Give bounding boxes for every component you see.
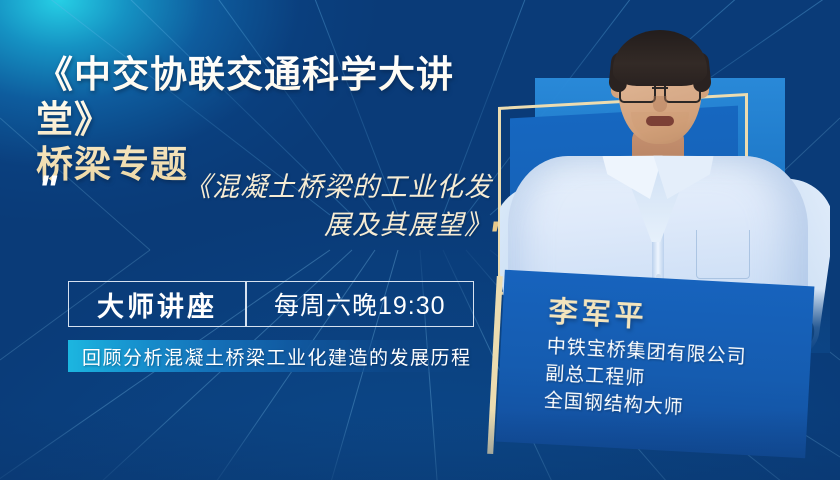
- tagline-text: 回顾分析混凝土桥梁工业化建造的发展历程: [68, 343, 472, 370]
- poster-canvas: 《中交协联交通科学大讲堂》 桥梁专题 " 《混凝土桥梁的工业化发 展及其展望》 …: [0, 0, 840, 480]
- schedule-box: 大师讲座 每周六晚19:30: [68, 281, 474, 327]
- speaker-info-inner: 李军平 中铁宝桥集团有限公司 副总工程师 全国钢结构大师: [496, 270, 815, 459]
- series-label: 大师讲座: [69, 285, 245, 324]
- left-content-column: 《中交协联交通科学大讲堂》 桥梁专题 " 《混凝土桥梁的工业化发 展及其展望》 …: [0, 0, 520, 480]
- speaker-hair: [613, 30, 707, 86]
- tagline-bar: 回顾分析混凝土桥梁工业化建造的发展历程: [68, 340, 474, 372]
- speaker-shirt-pocket: [696, 230, 750, 279]
- lecture-title-text: 《混凝土桥梁的工业化发 展及其展望》: [82, 168, 492, 245]
- quote-open-mark: ": [38, 170, 55, 210]
- speaker-mouth: [646, 116, 674, 126]
- lecture-title-block: " 《混凝土桥梁的工业化发 展及其展望》 ": [30, 168, 530, 273]
- eyeglasses-bridge: [652, 87, 668, 89]
- schedule-time: 每周六晚19:30: [247, 286, 474, 322]
- speaker-name: 李军平: [548, 288, 796, 343]
- speaker-info-card: 李军平 中铁宝桥集团有限公司 副总工程师 全国钢结构大师: [496, 270, 815, 459]
- speaker-nose: [653, 96, 667, 112]
- speaker-column: 李军平 中铁宝桥集团有限公司 副总工程师 全国钢结构大师: [470, 0, 840, 480]
